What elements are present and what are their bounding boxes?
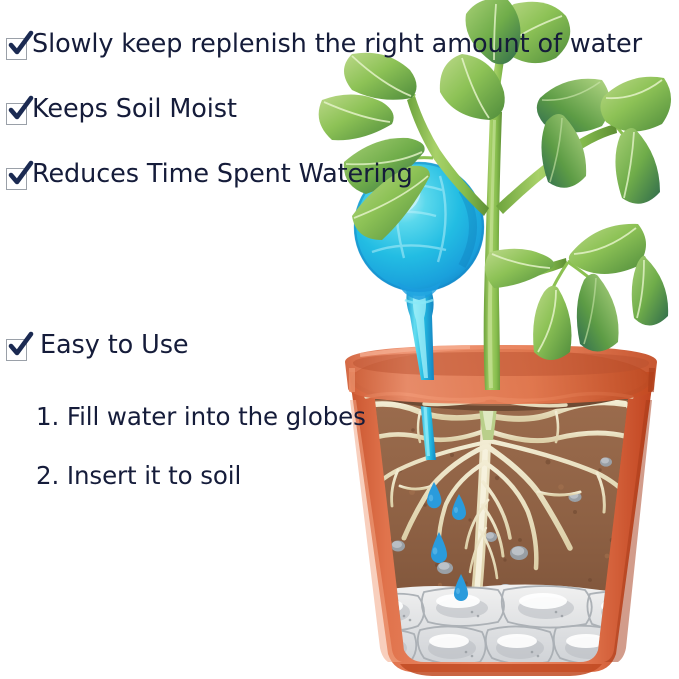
instruction-step-1: 1. Fill water into the globes	[36, 405, 366, 430]
checklist-item-4-label: Easy to Use	[40, 333, 188, 359]
instruction-step-2: 2. Insert it to soil	[36, 464, 241, 489]
checklist-item-1[interactable]: Slowly keep replenish the right amount o…	[6, 32, 642, 60]
checkbox-checked-icon[interactable]	[6, 38, 27, 60]
checklist-item-1-label: Slowly keep replenish the right amount o…	[32, 32, 642, 58]
checkbox-checked-icon[interactable]	[6, 103, 27, 125]
checklist-item-4[interactable]: Easy to Use	[6, 333, 188, 361]
checklist-content: Slowly keep replenish the right amount o…	[0, 0, 679, 679]
checklist-item-2-label: Keeps Soil Moist	[32, 97, 237, 123]
infographic-page: Slowly keep replenish the right amount o…	[0, 0, 679, 679]
checklist-item-2[interactable]: Keeps Soil Moist	[6, 97, 237, 125]
checklist-item-3[interactable]: Reduces Time Spent Watering	[6, 162, 413, 190]
checkbox-checked-icon[interactable]	[6, 168, 27, 190]
checklist-item-3-label: Reduces Time Spent Watering	[32, 162, 413, 188]
checkbox-checked-icon[interactable]	[6, 339, 27, 361]
